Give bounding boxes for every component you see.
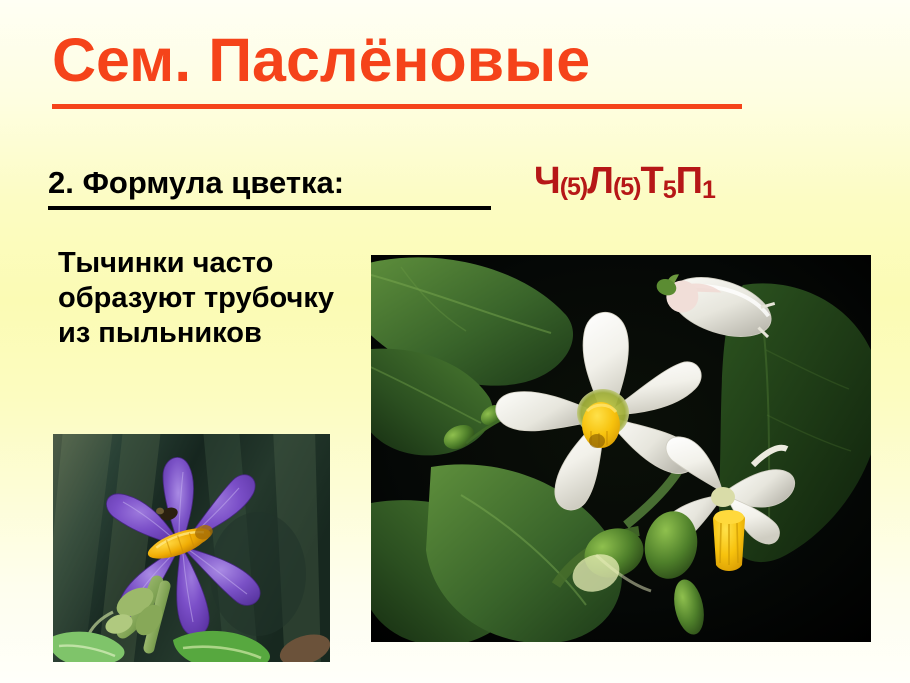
purple-flower-illustration <box>53 434 330 662</box>
presentation-slide: Сем. Паслёновые 2. Формула цветка: Ч(5)Л… <box>0 0 910 683</box>
formula-stamens-count: 5 <box>663 176 676 204</box>
purple-nightshade-flower-photo <box>53 434 330 662</box>
formula-corolla-letter: Л <box>587 160 613 202</box>
formula-pistil-count: 1 <box>702 176 715 204</box>
formula-corolla-count: (5) <box>613 173 641 201</box>
formula-pistil-letter: П <box>676 160 702 202</box>
title-underline <box>52 104 742 109</box>
white-flower-illustration <box>371 255 871 642</box>
formula-calyx-count: (5) <box>560 173 588 201</box>
flower-formula: Ч(5)Л(5)Т5П1 <box>534 160 715 203</box>
stamen-tube-caption: Тычинки часто образуют трубочку из пыльн… <box>58 246 368 351</box>
subheading-formula-label: 2. Формула цветка: <box>48 165 344 201</box>
formula-stamens-letter: Т <box>641 160 663 202</box>
page-title: Сем. Паслёновые <box>52 30 752 91</box>
title-block: Сем. Паслёновые <box>52 30 752 91</box>
formula-calyx-letter: Ч <box>534 160 560 202</box>
subheading-underline <box>48 206 491 210</box>
white-nightshade-flowers-photo <box>371 255 871 642</box>
